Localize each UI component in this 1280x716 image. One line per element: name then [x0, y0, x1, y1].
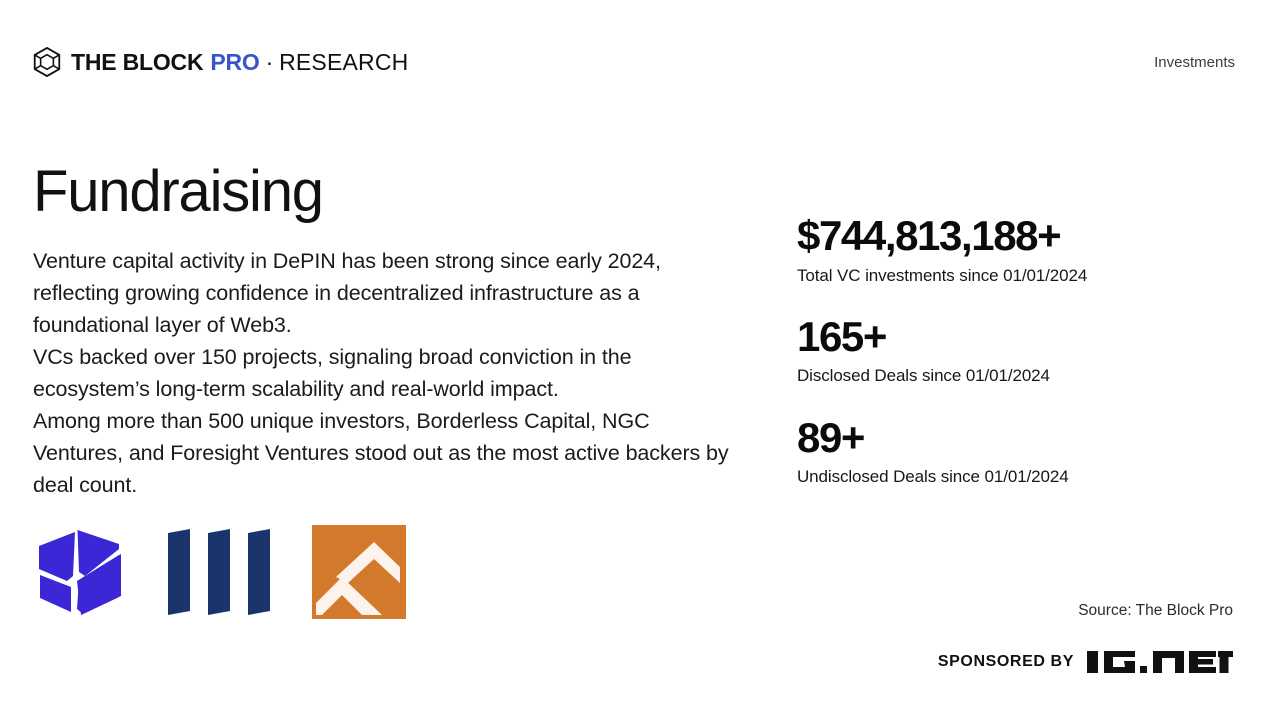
hexagon-cube-icon [33, 47, 61, 77]
body-copy: Venture capital activity in DePIN has be… [33, 245, 745, 501]
body-paragraph-1: Venture capital activity in DePIN has be… [33, 245, 745, 341]
brand-wordmark: THE BLOCK PRO · RESEARCH [71, 51, 408, 74]
stat-disclosed-deals: 165+ Disclosed Deals since 01/01/2024 [797, 315, 1237, 387]
stat-value: 89+ [797, 416, 1237, 461]
ngc-ventures-logo [164, 527, 276, 617]
brand-the-block-text: THE BLOCK [71, 51, 203, 74]
body-paragraph-2: VCs backed over 150 projects, signaling … [33, 341, 745, 405]
sponsor-lockup: SPONSORED BY [938, 648, 1233, 676]
investor-logo-row [33, 524, 406, 620]
foresight-ventures-logo [312, 525, 406, 619]
stat-value: 165+ [797, 315, 1237, 360]
stat-value: $744,813,188+ [797, 214, 1237, 259]
stats-column: $744,813,188+ Total VC investments since… [797, 214, 1237, 488]
header-section-label: Investments [1154, 54, 1235, 71]
body-paragraph-3: Among more than 500 unique investors, Bo… [33, 405, 745, 501]
brand-lockup[interactable]: THE BLOCK PRO · RESEARCH [33, 47, 408, 77]
brand-research-text: RESEARCH [279, 51, 408, 74]
sponsored-by-label: SPONSORED BY [938, 653, 1074, 671]
io-net-logo [1087, 648, 1233, 676]
borderless-capital-logo [33, 524, 128, 620]
brand-separator: · [266, 51, 273, 74]
main-left-column: Fundraising Venture capital activity in … [33, 162, 745, 501]
stat-label: Undisclosed Deals since 01/01/2024 [797, 467, 1237, 487]
page-title: Fundraising [33, 162, 745, 223]
brand-pro-text: PRO [210, 51, 259, 74]
stat-label: Disclosed Deals since 01/01/2024 [797, 366, 1237, 386]
stat-undisclosed-deals: 89+ Undisclosed Deals since 01/01/2024 [797, 416, 1237, 488]
stat-total-vc-investments: $744,813,188+ Total VC investments since… [797, 214, 1237, 286]
source-note: Source: The Block Pro [1078, 602, 1233, 620]
page-header: THE BLOCK PRO · RESEARCH Investments [33, 44, 1235, 80]
stat-label: Total VC investments since 01/01/2024 [797, 266, 1237, 286]
